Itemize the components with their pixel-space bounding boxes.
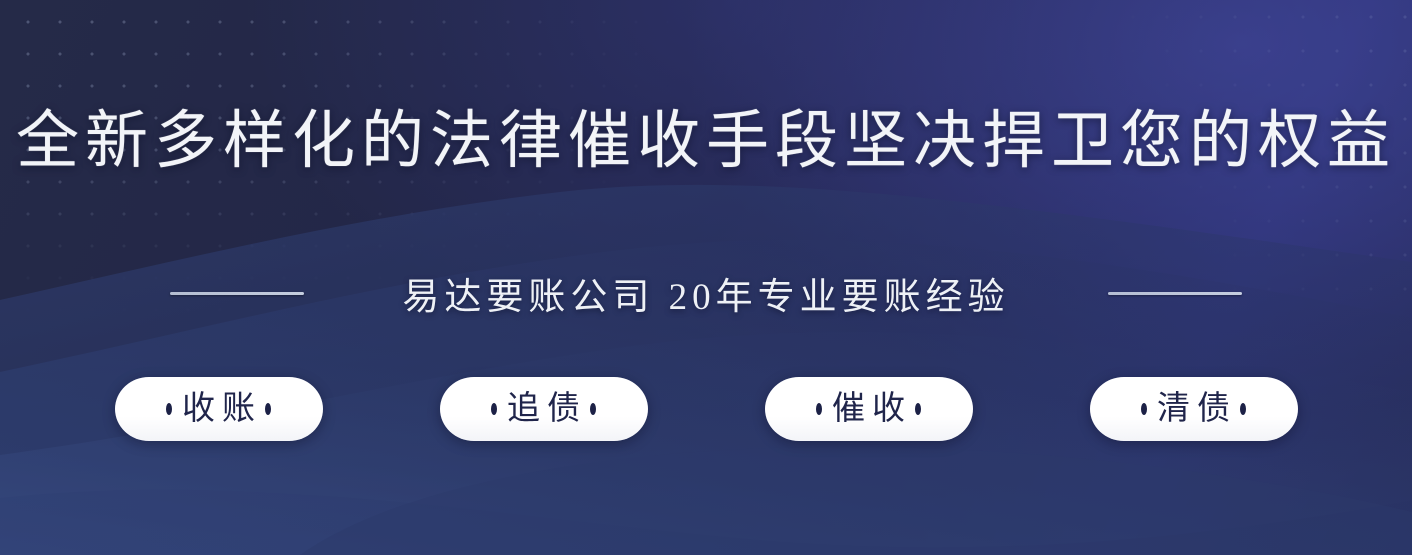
divider-left: [170, 292, 304, 295]
service-pill-zhuizhai[interactable]: 追债: [440, 377, 648, 441]
service-pill-cuishou[interactable]: 催收: [765, 377, 973, 441]
page-title: 全新多样化的法律催收手段坚决捍卫您的权益: [0, 106, 1412, 176]
bullet-dot-icon: [265, 403, 271, 415]
promo-banner: 全新多样化的法律催收手段坚决捍卫您的权益 易达要账公司 20年专业要账经验 收账…: [0, 0, 1412, 555]
service-pill-shouzhang[interactable]: 收账: [115, 377, 323, 441]
subtitle: 易达要账公司 20年专业要账经验: [402, 266, 1009, 320]
divider-right: [1108, 292, 1242, 295]
service-pill-label: 清债: [1147, 393, 1240, 426]
service-pill-qingzhai[interactable]: 清债: [1090, 377, 1298, 441]
subtitle-row: 易达要账公司 20年专业要账经验: [0, 266, 1412, 320]
service-pill-label: 催收: [822, 393, 915, 426]
bullet-dot-icon: [1240, 403, 1246, 415]
service-pill-label: 追债: [497, 393, 590, 426]
service-pill-list: 收账 追债 催收 清债: [0, 377, 1412, 441]
bullet-dot-icon: [915, 403, 921, 415]
bullet-dot-icon: [590, 403, 596, 415]
service-pill-label: 收账: [172, 393, 265, 426]
